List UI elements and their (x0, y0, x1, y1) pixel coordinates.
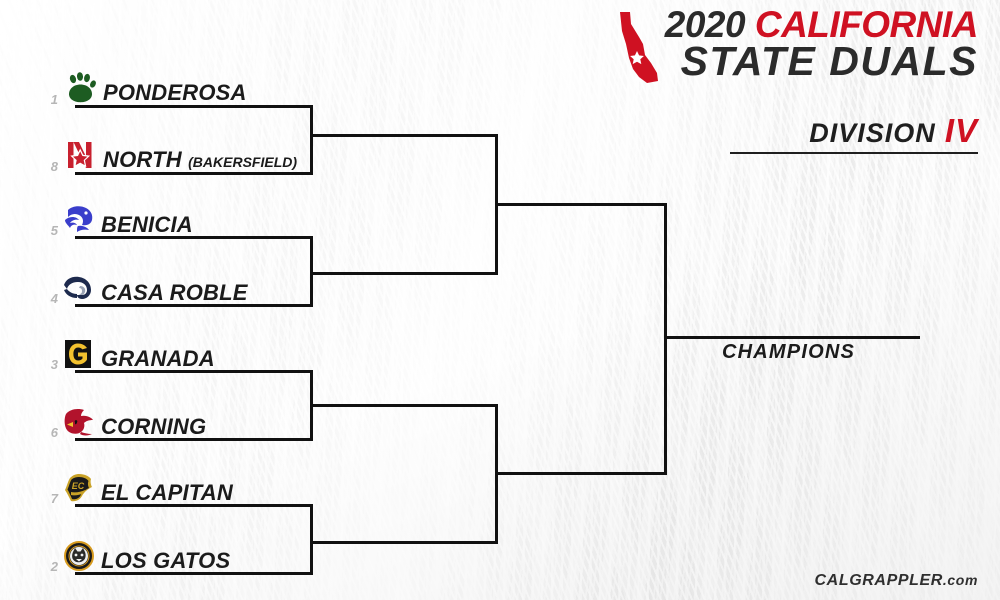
seed-number: 2 (38, 559, 58, 574)
site-brand: CALGRAPPLER (815, 572, 943, 589)
team-entry-los-gatos[interactable]: LOS GATOS (62, 538, 230, 572)
team-name: CASA ROBLE (101, 282, 248, 304)
champions-line (664, 336, 920, 339)
round1-connector-quarter-1 (310, 105, 313, 175)
team-entry-granada[interactable]: GRANADA (62, 336, 215, 370)
seed-number: 8 (38, 159, 58, 174)
seed-number: 5 (38, 223, 58, 238)
semifinal-line-bottom-1 (310, 404, 498, 407)
svg-text:EC: EC (72, 481, 85, 491)
letter-n-star-icon (64, 139, 98, 171)
team-name: CORNING (101, 416, 206, 438)
team-name: NORTH (BAKERSFIELD) (103, 149, 297, 171)
final-line-top (495, 203, 667, 206)
circle-seal-cat-icon (62, 540, 96, 572)
cardinal-head-icon (62, 406, 96, 438)
wildcat-head-icon (62, 204, 96, 236)
final-connector (664, 203, 667, 475)
team-entry-el-capitan[interactable]: EC EL CAPITAN (62, 470, 233, 504)
seed-number: 6 (38, 425, 58, 440)
round1-connector-quarter-4 (310, 504, 313, 575)
team-name: EL CAPITAN (101, 482, 233, 504)
bracket-poster: 2020 CALIFORNIA STATE DUALS DIVISIONIV (0, 0, 1000, 600)
crest-shield-icon: EC (62, 472, 96, 504)
team-entry-benicia[interactable]: BENICIA (62, 202, 193, 236)
seed-number: 1 (38, 92, 58, 107)
final-line-bottom (495, 472, 667, 475)
seed-number: 4 (38, 291, 58, 306)
semifinal-line-top-2 (310, 272, 498, 275)
team-entry-ponderosa[interactable]: PONDEROSA (64, 70, 247, 104)
team-line-seed-8 (75, 172, 313, 175)
team-subname: (BAKERSFIELD) (188, 154, 297, 170)
ram-head-icon (62, 272, 96, 304)
team-line-seed-1 (75, 105, 313, 108)
site-tld: .com (943, 572, 978, 588)
champions-label: CHAMPIONS (722, 341, 855, 364)
team-name: PONDEROSA (103, 82, 247, 104)
site-watermark: CALGRAPPLER.com (815, 572, 978, 590)
tournament-bracket: 1 8 5 4 3 6 7 2 PONDEROSA (0, 0, 1000, 600)
seed-number: 7 (38, 491, 58, 506)
team-entry-casa-roble[interactable]: CASA ROBLE (62, 270, 248, 304)
letter-g-block-icon (62, 338, 96, 370)
seed-number: 3 (38, 357, 58, 372)
semifinal-line-bottom-2 (310, 541, 498, 544)
team-name: GRANADA (101, 348, 215, 370)
semifinal-line-top-1 (310, 134, 498, 137)
team-name: LOS GATOS (101, 550, 230, 572)
team-entry-north[interactable]: NORTH (BAKERSFIELD) (64, 137, 297, 171)
team-name: BENICIA (101, 214, 193, 236)
bear-paw-icon (64, 72, 98, 104)
team-entry-corning[interactable]: CORNING (62, 404, 206, 438)
